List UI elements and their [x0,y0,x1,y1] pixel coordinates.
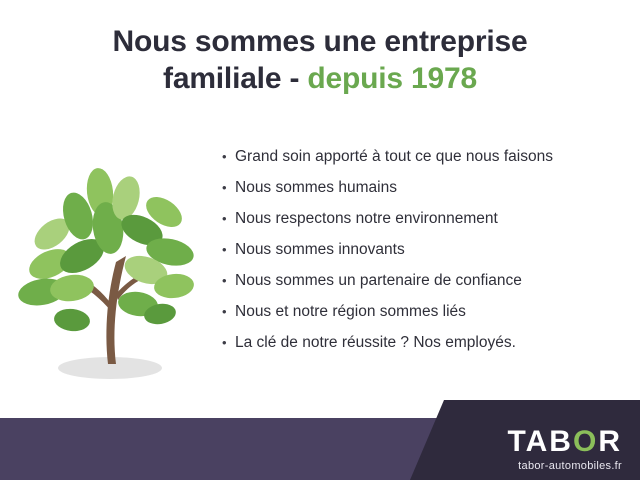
title-line-1: Nous sommes une entreprise [0,24,640,61]
title-line-2: familiale - depuis 1978 [0,61,640,98]
brand-name-accent: O [573,425,598,458]
bullet-icon: • [222,274,235,287]
brand-name: TABOR [508,427,622,457]
leaf [53,307,91,333]
brand-name-part1: TAB [508,425,573,458]
title-line-2-prefix: familiale - [163,62,299,95]
page-title: Nous sommes une entreprise familiale - d… [0,24,640,97]
bullet-list: • Grand soin apporté à tout ce que nous … [222,148,622,365]
list-item: • Nous et notre région sommes liés [222,303,622,320]
brand-logo: TABOR tabor-automobiles.fr [508,427,622,472]
list-item: • Nous sommes un partenaire de confiance [222,272,622,289]
tree-illustration [12,152,212,387]
bullet-icon: • [222,212,235,225]
list-item: • Grand soin apporté à tout ce que nous … [222,148,622,165]
brand-url: tabor-automobiles.fr [508,460,622,472]
list-item-label: Nous et notre région sommes liés [235,303,466,320]
list-item: • Nous sommes innovants [222,241,622,258]
slide-canvas: Nous sommes une entreprise familiale - d… [0,0,640,480]
bullet-icon: • [222,305,235,318]
list-item: • La clé de notre réussite ? Nos employé… [222,334,622,351]
title-line-2-accent: depuis 1978 [307,62,477,95]
list-item-label: Nous sommes un partenaire de confiance [235,272,522,289]
list-item: • Nous respectons notre environnement [222,210,622,227]
list-item-label: Nous respectons notre environnement [235,210,498,227]
list-item-label: Nous sommes innovants [235,241,405,258]
bullet-icon: • [222,181,235,194]
bullet-icon: • [222,336,235,349]
list-item-label: Nous sommes humains [235,179,397,196]
brand-name-part2: R [598,425,622,458]
bullet-icon: • [222,150,235,163]
list-item-label: La clé de notre réussite ? Nos employés. [235,334,516,351]
list-item-label: Grand soin apporté à tout ce que nous fa… [235,148,553,165]
bullet-icon: • [222,243,235,256]
list-item: • Nous sommes humains [222,179,622,196]
